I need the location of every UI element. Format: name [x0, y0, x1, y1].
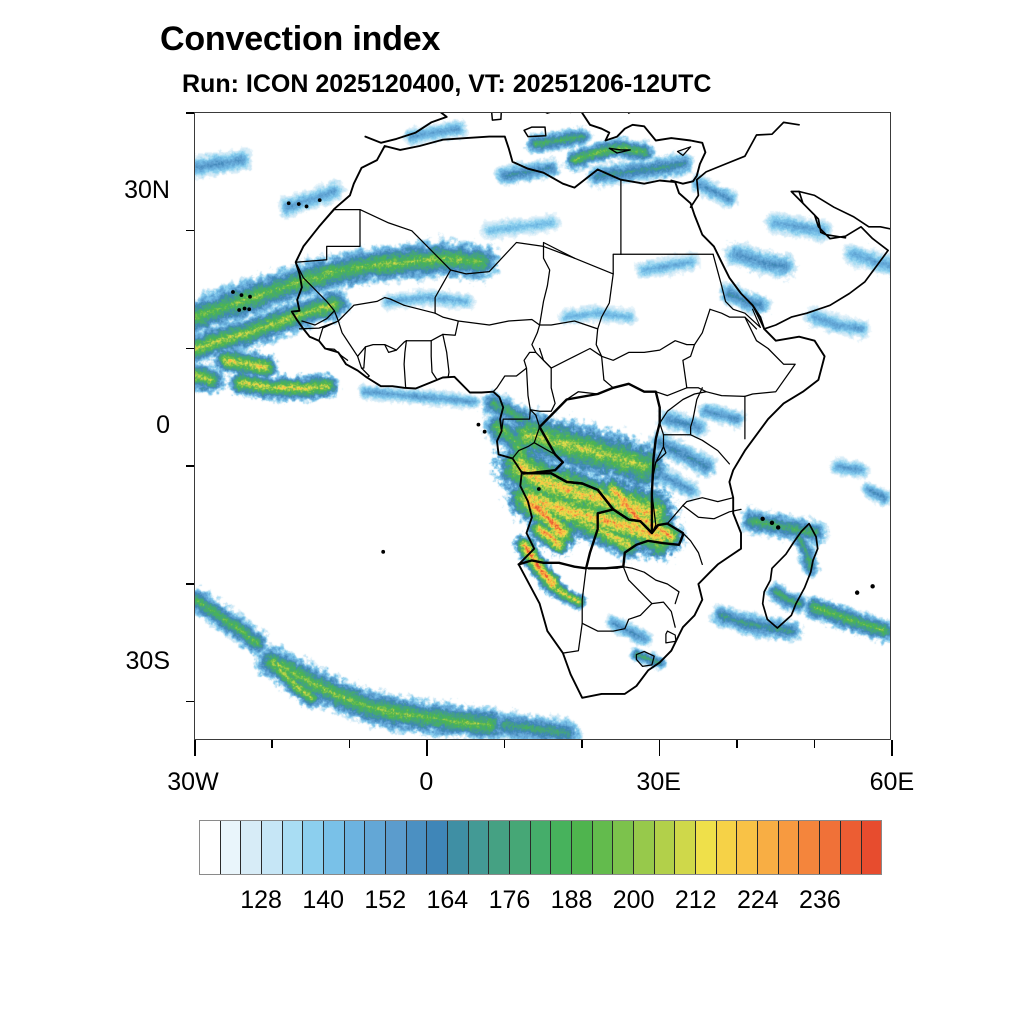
island-marker: [247, 307, 251, 311]
island-marker: [537, 487, 541, 491]
border-path: [544, 243, 575, 259]
border-path: [656, 435, 730, 464]
colorbar-tick-128: 128: [240, 886, 282, 915]
colorbar-tick-152: 152: [364, 886, 406, 915]
x-axis-tick: [504, 740, 506, 748]
border-path: [540, 388, 614, 427]
map-panel: [194, 112, 891, 740]
island-marker: [243, 307, 247, 311]
border-path: [527, 368, 531, 410]
border-path: [588, 509, 683, 568]
colorbar-cell-9: [386, 821, 407, 874]
x-axis-tick: [659, 740, 661, 756]
border-path: [406, 321, 458, 341]
border-path: [623, 567, 679, 604]
border-path: [582, 602, 675, 631]
colorbar-cell-18: [572, 821, 593, 874]
border-path: [602, 356, 687, 395]
x-axis-tick: [194, 740, 196, 756]
border-path: [683, 498, 733, 506]
colorbar-tick-176: 176: [489, 886, 531, 915]
colorbar-cell-31: [841, 821, 862, 874]
border-path: [623, 533, 683, 567]
border-path: [522, 384, 660, 533]
x-axis-tick: [891, 740, 893, 756]
colorbar-cell-15: [510, 821, 531, 874]
border-path: [431, 341, 436, 379]
island-marker: [776, 525, 780, 529]
colorbar-cell-29: [799, 821, 820, 874]
island-marker: [240, 293, 244, 297]
border-path: [799, 192, 891, 230]
island-marker: [381, 550, 385, 554]
border-path: [763, 524, 818, 628]
y-axis-tick: [186, 701, 194, 703]
x-axis-tick: [271, 740, 273, 748]
border-path: [296, 210, 360, 263]
border-path: [296, 262, 404, 321]
border-path: [443, 334, 449, 376]
x-axis-tick: [581, 740, 583, 748]
island-marker: [477, 423, 481, 427]
border-path: [667, 506, 741, 524]
border-path: [691, 122, 800, 207]
colorbar-tick-236: 236: [799, 886, 841, 915]
y-axis-tick: [186, 112, 194, 114]
border-path: [687, 388, 745, 397]
border-path: [544, 246, 621, 274]
map-frame: [194, 112, 891, 740]
country-borders-overlay: [195, 113, 891, 740]
colorbar-cell-19: [593, 821, 614, 874]
island-marker: [760, 517, 764, 521]
border-path: [519, 473, 614, 569]
colorbar-tick-labels: 128140152164176188200212224236: [0, 886, 1024, 920]
colorbar-cell-2: [241, 821, 262, 874]
island-marker: [305, 205, 309, 209]
colorbar-cell-6: [324, 821, 345, 874]
x-axis-label-60E: 60E: [870, 768, 914, 797]
border-path: [540, 321, 598, 329]
border-path: [502, 410, 531, 431]
colorbar-cell-26: [737, 821, 758, 874]
border-path: [365, 113, 705, 184]
run-valid-time-subtitle: Run: ICON 2025120400, VT: 20251206-12UTC: [182, 70, 711, 99]
colorbar-cell-25: [717, 821, 738, 874]
colorbar[interactable]: [199, 820, 882, 875]
border-path: [435, 270, 451, 313]
island-marker: [483, 430, 487, 434]
border-path: [530, 360, 555, 411]
border-path: [404, 305, 539, 325]
border-path: [540, 246, 550, 325]
colorbar-tick-212: 212: [675, 886, 717, 915]
border-path: [596, 274, 613, 356]
colorbar-cell-24: [696, 821, 717, 874]
border-path: [660, 392, 706, 435]
border-path: [404, 341, 406, 387]
border-path: [678, 147, 691, 156]
colorbar-tick-224: 224: [737, 886, 779, 915]
colorbar-cell-23: [675, 821, 696, 874]
y-axis-tick: [186, 230, 194, 232]
page-title: Convection index: [160, 20, 440, 59]
colorbar-cell-7: [345, 821, 366, 874]
colorbar-cell-1: [221, 821, 242, 874]
colorbar-cell-12: [448, 821, 469, 874]
border-path: [360, 210, 427, 247]
x-axis-label-0: 0: [419, 768, 433, 797]
border-path: [609, 148, 630, 153]
colorbar-cell-22: [655, 821, 676, 874]
border-path: [764, 192, 888, 329]
border-path: [522, 473, 624, 569]
island-marker: [855, 590, 859, 594]
colorbar-cell-21: [634, 821, 655, 874]
border-path: [563, 568, 586, 653]
border-path: [623, 567, 652, 604]
island-marker: [297, 202, 301, 206]
border-path: [513, 410, 540, 459]
colorbar-cell-27: [758, 821, 779, 874]
y-axis-label-30N: 30N: [0, 176, 170, 205]
island-marker: [231, 290, 235, 294]
colorbar-cell-32: [862, 821, 882, 874]
x-axis-tick: [426, 740, 428, 756]
colorbar-cell-20: [613, 821, 634, 874]
colorbar-cell-10: [407, 821, 428, 874]
colorbar-tick-164: 164: [427, 886, 469, 915]
island-marker: [318, 198, 322, 202]
x-axis-label-30W: 30W: [167, 768, 218, 797]
x-axis-tick: [814, 740, 816, 748]
colorbar-cell-3: [262, 821, 283, 874]
island-marker: [237, 308, 241, 312]
border-path: [302, 311, 335, 325]
colorbar-cell-0: [200, 821, 221, 874]
y-axis-tick: [186, 465, 194, 467]
x-axis-label-30E: 30E: [636, 768, 680, 797]
border-path: [427, 243, 543, 274]
colorbar-tick-200: 200: [613, 886, 655, 915]
y-axis-tick: [186, 583, 194, 585]
island-marker: [870, 584, 874, 588]
x-axis-tick: [349, 740, 351, 748]
y-axis-label-0: 0: [0, 411, 170, 440]
colorbar-cell-8: [365, 821, 386, 874]
border-path: [491, 113, 502, 120]
colorbar-cell-16: [531, 821, 552, 874]
border-path: [524, 127, 546, 137]
colorbar-cell-14: [489, 821, 510, 874]
border-path: [713, 254, 760, 327]
y-axis-tick: [186, 348, 194, 350]
colorbar-cell-4: [283, 821, 304, 874]
colorbar-tick-140: 140: [302, 886, 344, 915]
border-path: [666, 631, 676, 643]
island-marker: [287, 201, 291, 205]
border-path: [338, 321, 406, 356]
border-path: [319, 321, 338, 341]
border-path: [493, 352, 536, 391]
border-path: [636, 652, 654, 667]
y-axis-label-30S: 30S: [0, 647, 170, 676]
colorbar-cell-13: [469, 821, 490, 874]
border-path: [683, 309, 710, 388]
border-path: [602, 341, 695, 361]
border-path: [745, 317, 795, 396]
colorbar-cell-17: [551, 821, 572, 874]
colorbar-tick-188: 188: [551, 886, 593, 915]
island-marker: [248, 295, 252, 299]
x-axis-tick: [736, 740, 738, 748]
colorbar-cell-5: [303, 821, 324, 874]
border-path: [683, 533, 702, 564]
island-marker: [770, 521, 774, 525]
colorbar-cell-30: [820, 821, 841, 874]
colorbar-cell-28: [779, 821, 800, 874]
colorbar-cell-11: [427, 821, 448, 874]
